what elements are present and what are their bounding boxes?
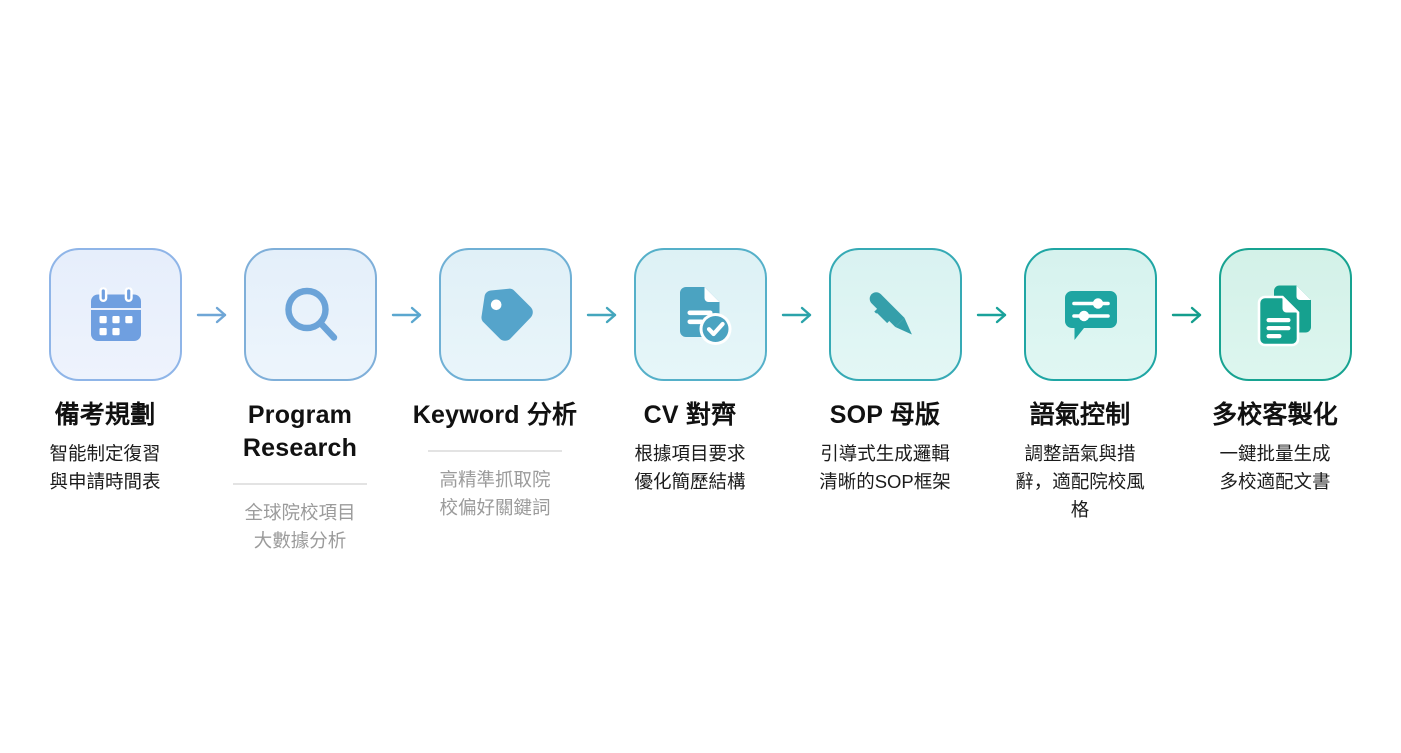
text-line: 清晰的SOP框架 [798,468,973,496]
step-labels: Keyword 分析高精準抓取院校偏好關鍵詞 [408,381,583,522]
text-line: 全球院校項目 [213,499,388,527]
step-title: SOP 母版 [798,399,973,432]
step-icon-tile[interactable] [244,248,377,381]
calendar-icon [80,279,152,351]
text-line: 高精準抓取院 [408,466,583,494]
step-description: 智能制定復習與申請時間表 [18,440,193,496]
chat-sliders-icon [1055,279,1127,351]
flow-arrow-2 [377,248,439,381]
step-title: 語氣控制 [993,399,1168,432]
step-title: 多校客製化 [1188,399,1363,432]
process-step-6[interactable]: 語氣控制調整語氣與措辭，適配院校風格 [1024,248,1157,524]
flow-arrow-5 [962,248,1024,381]
process-step-3[interactable]: Keyword 分析高精準抓取院校偏好關鍵詞 [439,248,572,522]
text-line: 智能制定復習 [18,440,193,468]
step-description: 一鍵批量生成多校適配文書 [1188,440,1363,496]
step-labels: 語氣控制調整語氣與措辭，適配院校風格 [993,381,1168,524]
step-icon-tile[interactable] [634,248,767,381]
step-labels: SOP 母版引導式生成邏輯清晰的SOP框架 [798,381,973,496]
text-line: 格 [993,496,1168,524]
text-line: 一鍵批量生成 [1188,440,1363,468]
process-step-7[interactable]: 多校客製化一鍵批量生成多校適配文書 [1219,248,1352,496]
step-labels: 備考規劃智能制定復習與申請時間表 [18,381,193,496]
flow-arrow-1 [182,248,244,381]
text-line: 調整語氣與措 [993,440,1168,468]
flow-arrow-3 [572,248,634,381]
step-labels: CV 對齊根據項目要求優化簡歷結構 [603,381,778,496]
step-labels: 多校客製化一鍵批量生成多校適配文書 [1188,381,1363,496]
text-line: 根據項目要求 [603,440,778,468]
process-step-5[interactable]: SOP 母版引導式生成邏輯清晰的SOP框架 [829,248,962,496]
text-line: 優化簡歷結構 [603,468,778,496]
process-flow-diagram: 備考規劃智能制定復習與申請時間表 Program Research全球院校項目大… [0,0,1401,753]
documents-icon [1250,279,1322,351]
step-title: CV 對齊 [603,399,778,432]
step-icon-tile[interactable] [49,248,182,381]
step-divider [428,450,562,452]
process-step-4[interactable]: CV 對齊根據項目要求優化簡歷結構 [634,248,767,496]
step-title: Keyword 分析 [408,399,583,432]
process-step-1[interactable]: 備考規劃智能制定復習與申請時間表 [49,248,182,496]
step-title: Program Research [213,399,388,465]
step-title: 備考規劃 [18,399,193,432]
flow-arrow-4 [767,248,829,381]
step-note: 高精準抓取院校偏好關鍵詞 [408,466,583,522]
text-line: 大數據分析 [213,527,388,555]
process-step-2[interactable]: Program Research全球院校項目大數據分析 [244,248,377,555]
step-note: 全球院校項目大數據分析 [213,499,388,555]
document-check-icon [665,279,737,351]
flow-arrow-6 [1157,248,1219,381]
step-icon-tile[interactable] [1024,248,1157,381]
text-line: 校偏好關鍵詞 [408,494,583,522]
step-icon-tile[interactable] [1219,248,1352,381]
step-divider [233,483,367,485]
text-line: 與申請時間表 [18,468,193,496]
text-line: 多校適配文書 [1188,468,1363,496]
step-icon-tile[interactable] [439,248,572,381]
tag-icon [470,279,542,351]
magnifier-icon [275,279,347,351]
text-line: 辭，適配院校風 [993,468,1168,496]
step-labels: Program Research全球院校項目大數據分析 [213,381,388,555]
step-icon-tile[interactable] [829,248,962,381]
process-flow-row: 備考規劃智能制定復習與申請時間表 Program Research全球院校項目大… [0,248,1401,555]
text-line: 引導式生成邏輯 [798,440,973,468]
step-description: 調整語氣與措辭，適配院校風格 [993,440,1168,524]
step-description: 引導式生成邏輯清晰的SOP框架 [798,440,973,496]
pen-icon [860,279,932,351]
step-description: 根據項目要求優化簡歷結構 [603,440,778,496]
